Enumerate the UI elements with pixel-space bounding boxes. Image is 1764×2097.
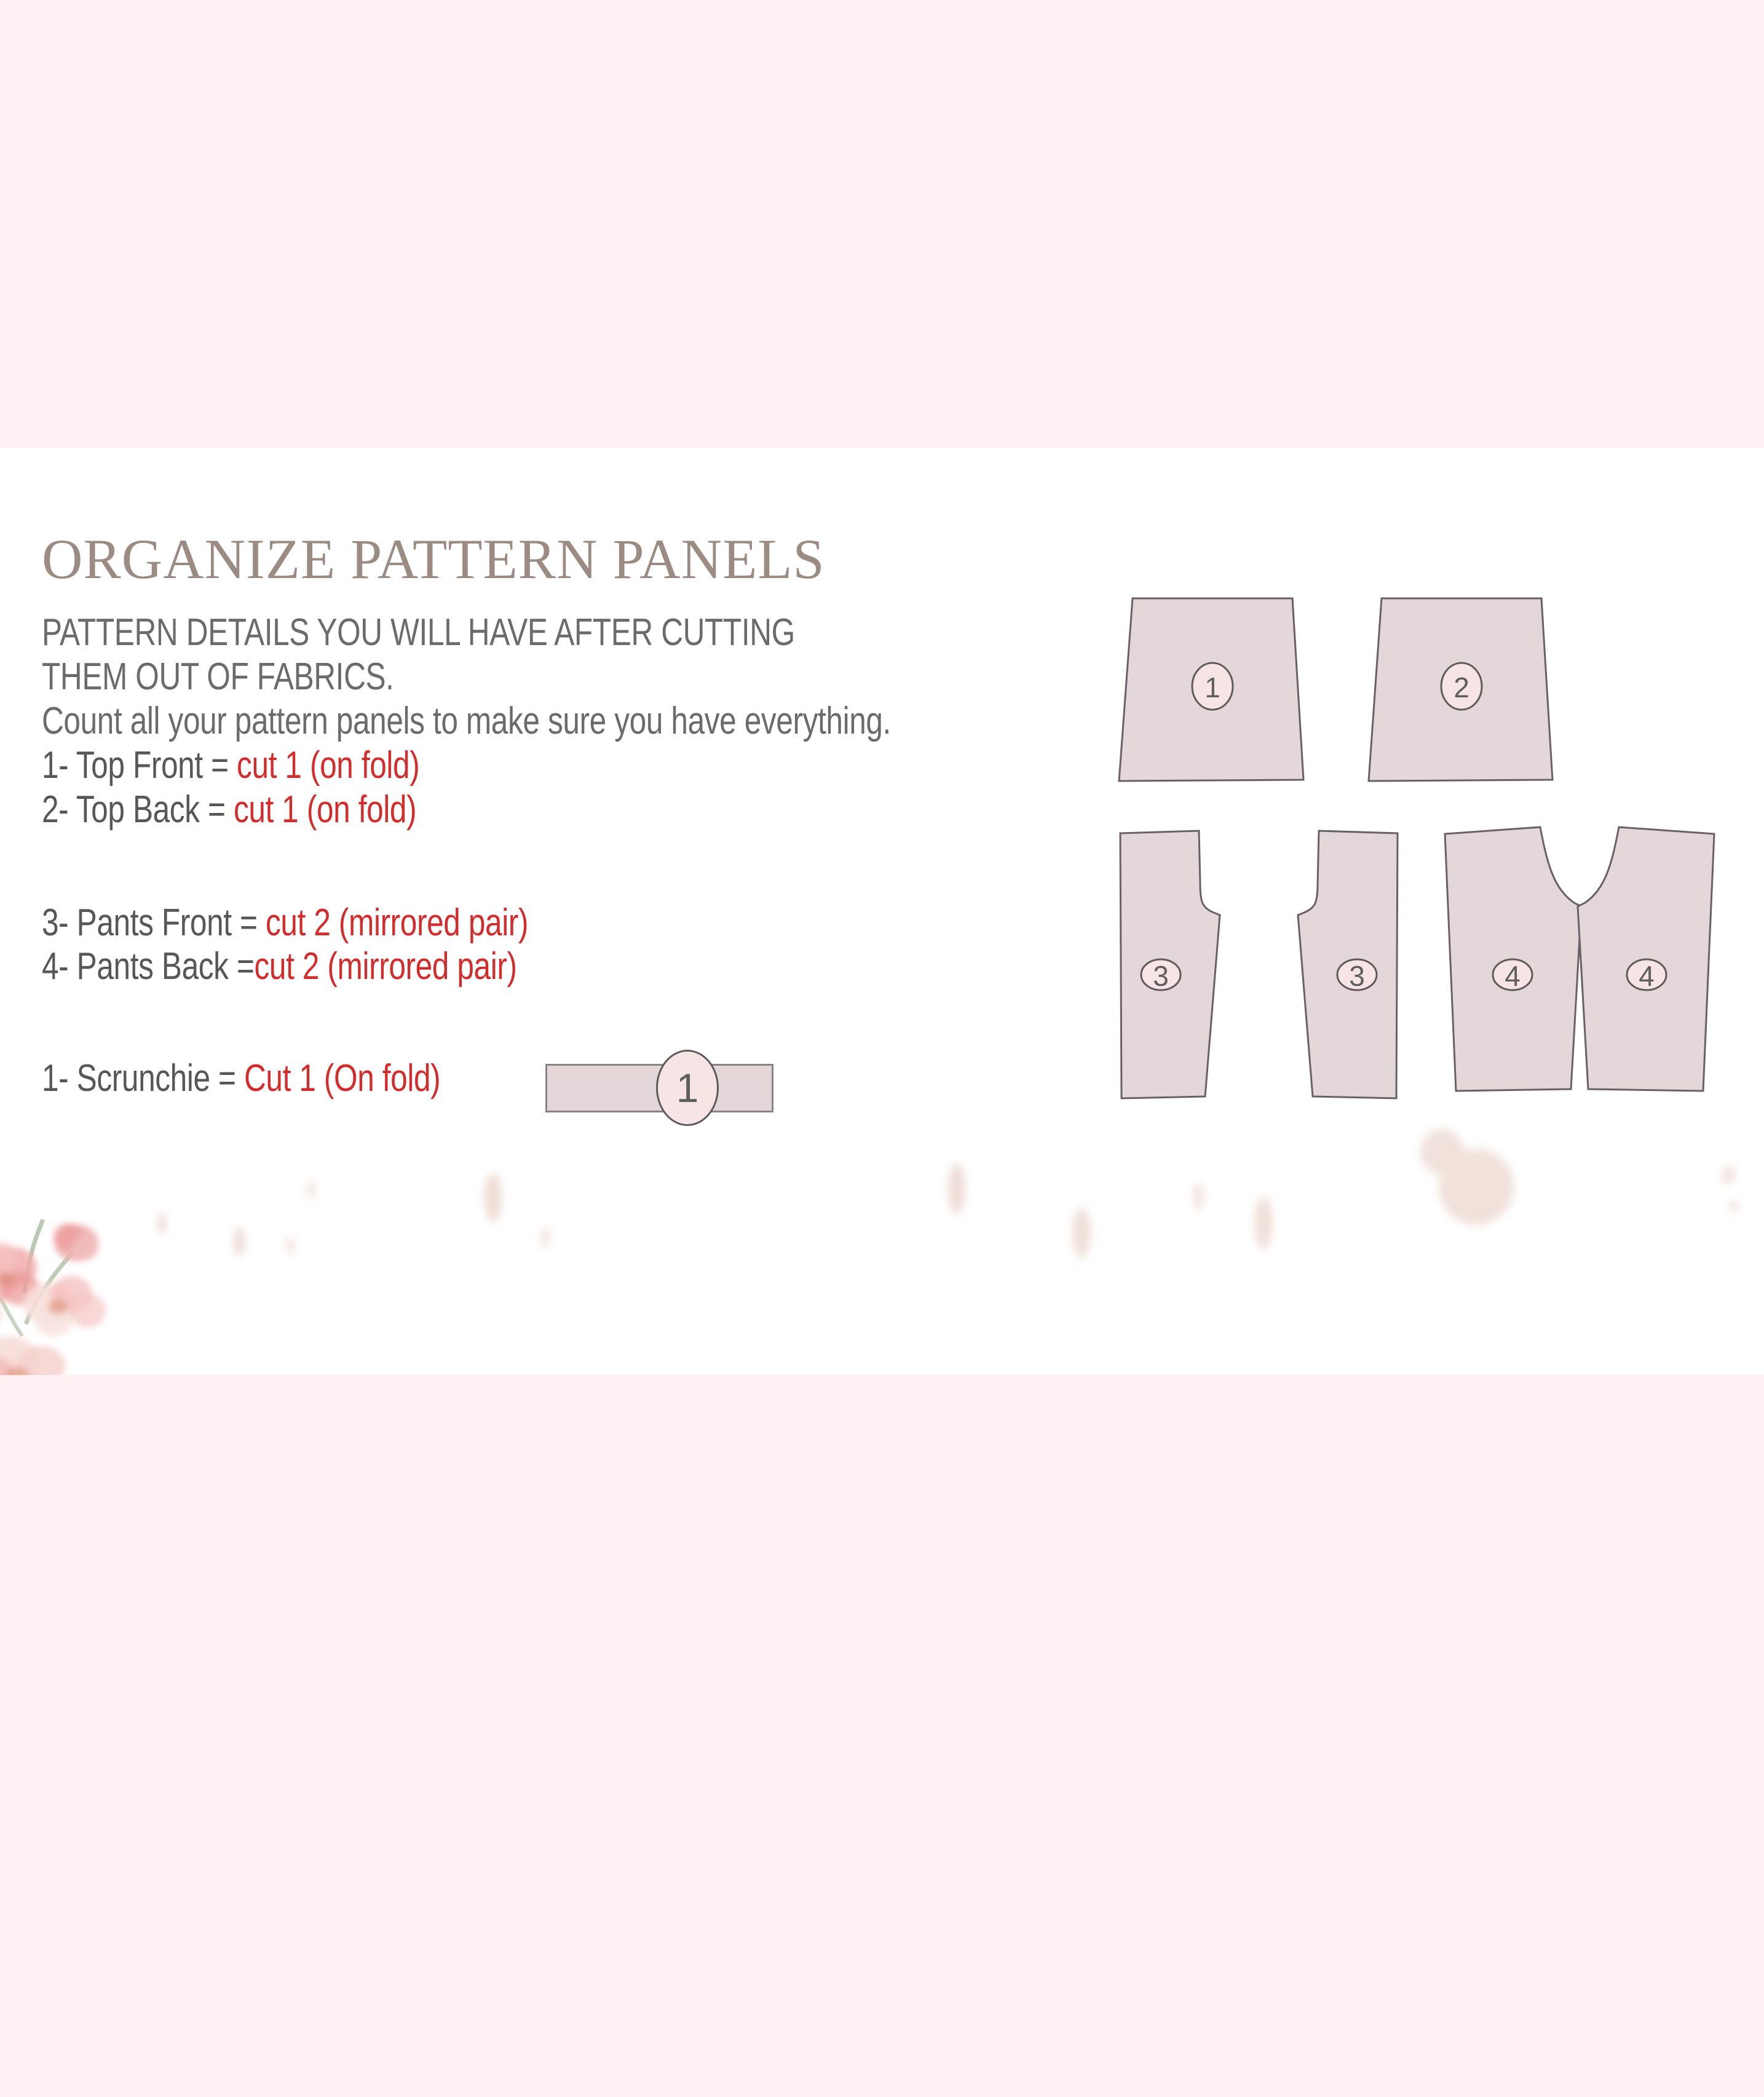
splatter-dot [485,1173,502,1221]
splatter-dot [1730,1200,1738,1213]
group-spacer [42,989,1075,1056]
panel-label: 1- Top Front = [42,744,237,787]
text-column: ORGANIZE PATTERN PANELS PATTERN DETAILS … [42,531,1075,1101]
piece-badge-number: 4 [1505,960,1521,992]
floral-corner-decoration [0,1140,184,1375]
intro-paragraph: PATTERN DETAILS YOU WILL HAVE AFTER CUTT… [42,611,1075,743]
panel-label: 1- Scrunchie = [42,1057,244,1100]
piece-badge-number: 2 [1454,672,1469,704]
piece-badge-number: 4 [1639,960,1655,992]
panel-cut-value: Cut 1 (On fold) [244,1057,440,1100]
piece-badge-number: 1 [1204,672,1220,704]
splatter-dot [307,1181,315,1198]
splatter-dot [287,1236,294,1255]
pattern-piece-top-front: 1 [1119,598,1303,781]
pattern-piece-pants-back-left: 4 [1445,827,1581,1091]
panel-label: 2- Top Back = [42,788,234,831]
group-spacer [42,832,1075,901]
panel-label: 4- Pants Back = [42,945,255,988]
panel-cut-value: cut 1 (on fold) [237,744,419,787]
panel-cut-value: cut 2 (mirrored pair) [255,945,517,988]
splatter-dot [234,1227,245,1256]
splatter-dot [157,1213,166,1234]
panel-group-accessory: 1- Scrunchie = Cut 1 (On fold) 1 [42,1056,1075,1101]
content-panel: ORGANIZE PATTERN PANELS PATTERN DETAILS … [0,448,1764,1375]
splatter-dot [948,1163,965,1214]
splatter-dot [1722,1166,1735,1184]
panel-line-top-front: 1- Top Front = cut 1 (on fold) [42,743,868,788]
intro-line-3: Count all your pattern panels to make su… [42,699,868,743]
piece-badge-number: 3 [1349,960,1365,992]
page-title: ORGANIZE PATTERN PANELS [42,531,1075,587]
pattern-piece-top-back: 2 [1369,598,1552,781]
piece-badge-number: 3 [1153,960,1169,992]
pattern-piece-pants-front-right: 3 [1298,831,1398,1098]
panel-group-tops: 1- Top Front = cut 1 (on fold) 2- Top Ba… [42,743,1075,832]
splatter-dot [541,1227,550,1248]
panel-cut-value: cut 1 (on fold) [234,788,416,831]
panel-label: 3- Pants Front = [42,902,266,944]
panel-group-pants: 3- Pants Front = cut 2 (mirrored pair) 4… [42,901,1075,989]
panel-line-top-back: 2- Top Back = cut 1 (on fold) [42,788,868,832]
floral-svg [0,1140,184,1375]
intro-line-1: PATTERN DETAILS YOU WILL HAVE AFTER CUTT… [42,611,868,655]
panel-cut-value: cut 2 (mirrored pair) [266,902,528,944]
panel-line-pants-back: 4- Pants Back =cut 2 (mirrored pair) [42,945,868,989]
pattern-piece-pants-front-left: 3 [1120,831,1220,1098]
pattern-pieces-diagram: 1 2 3 3 [1082,595,1715,1278]
intro-line-2: THEM OUT OF FABRICS. [42,655,868,699]
pattern-piece-pants-back-right: 4 [1578,827,1714,1091]
scrunchie-piece-badge: 1 [656,1050,719,1126]
panel-line-pants-front: 3- Pants Front = cut 2 (mirrored pair) [42,901,868,945]
